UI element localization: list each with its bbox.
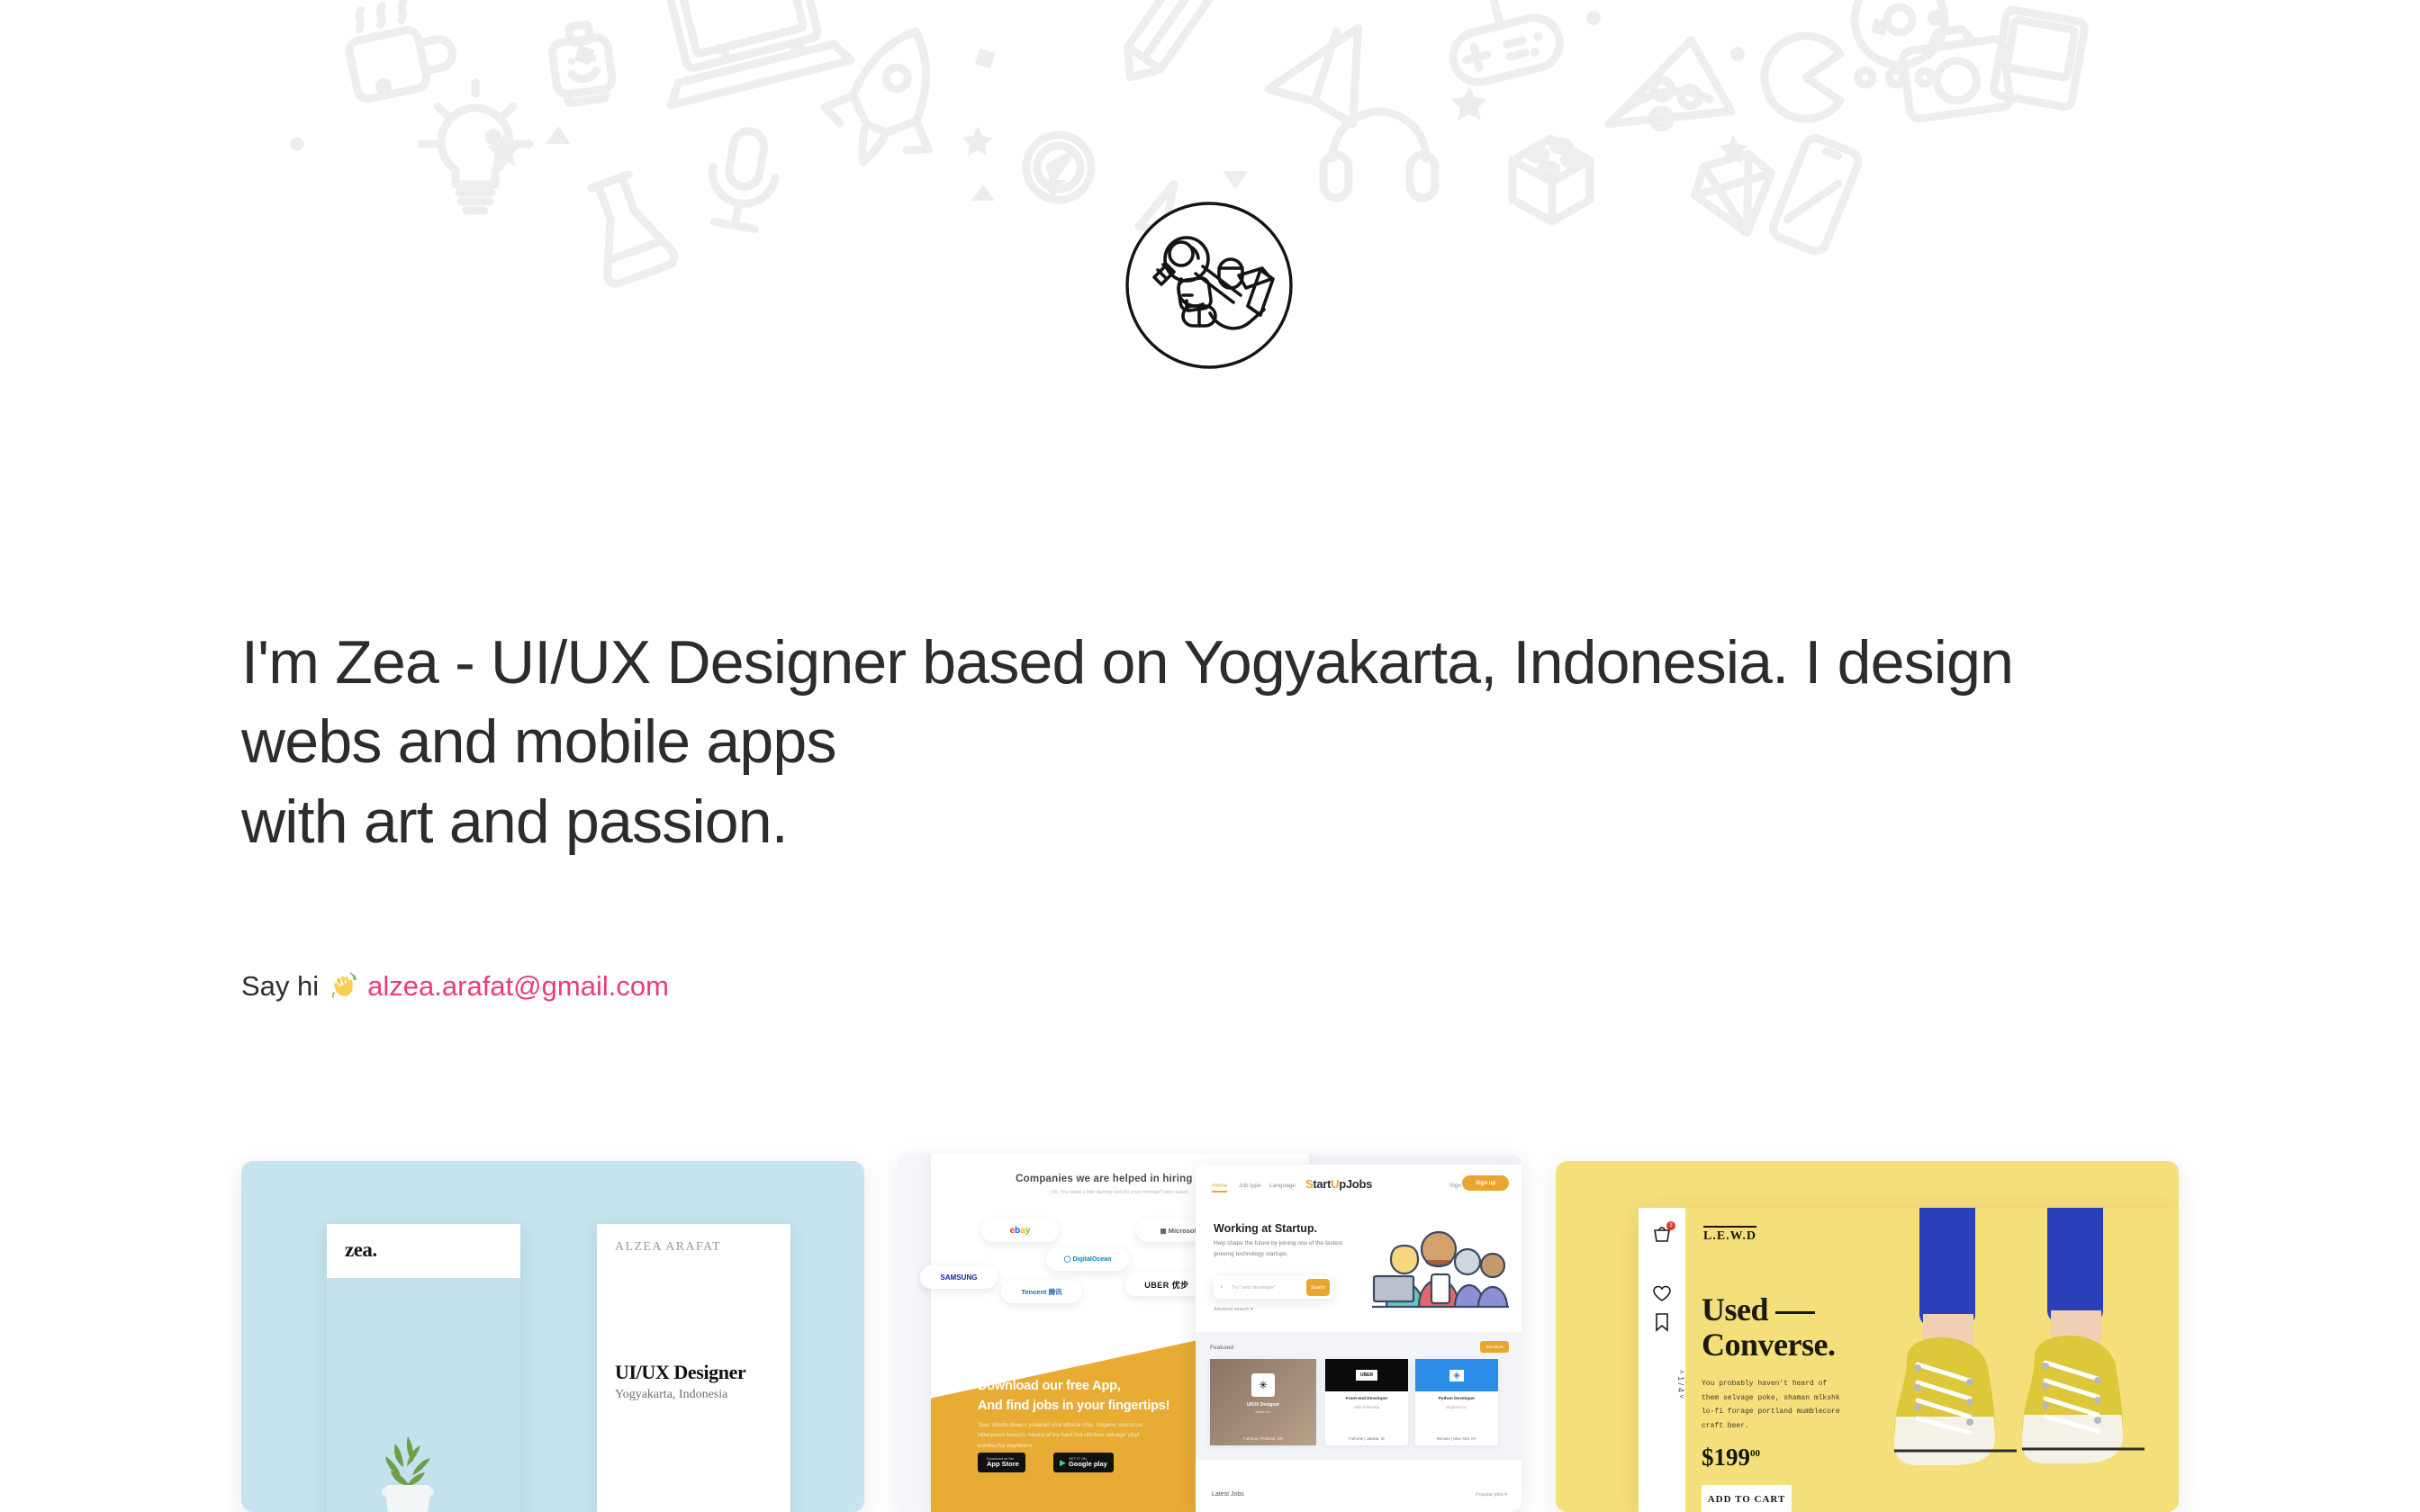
team-illustration-icon bbox=[1372, 1224, 1509, 1310]
portfolio-card-branding[interactable]: zea. ALZEA ARAFAT UI/UX Designer Yogyaka… bbox=[241, 1161, 864, 1512]
banner-line-1: Download our free App, bbox=[978, 1379, 1121, 1393]
uber-icon: UBER bbox=[1356, 1370, 1377, 1381]
astronaut-in-circle-icon[interactable] bbox=[1124, 200, 1295, 371]
app-hero-paragraph: Help shape the future by joining one of … bbox=[1214, 1238, 1349, 1260]
job-title-2: Front-end Developer bbox=[1325, 1397, 1408, 1401]
banner-paragraph: Jean shorts deep v polaroid viral ethica… bbox=[978, 1420, 1158, 1451]
featured-job-card-1[interactable]: ✳ UI/UX Designer Slack Inc. Full-time | … bbox=[1210, 1359, 1316, 1445]
cart-badge: 3 bbox=[1666, 1221, 1675, 1230]
product-price: $19900 bbox=[1702, 1444, 1760, 1471]
job-meta-3: Remote | New York, NY bbox=[1415, 1436, 1498, 1441]
smartphone-icon bbox=[1770, 135, 1862, 255]
person-role: UI/UX Designer bbox=[615, 1361, 745, 1384]
gamepad-icon bbox=[1438, 0, 1566, 87]
slide-pager[interactable]: ˄ 1 / 4 ˅ bbox=[1639, 1370, 1685, 1399]
app-hero-title: Working at Startup. bbox=[1214, 1222, 1317, 1235]
laptop-icon bbox=[642, 0, 851, 105]
contact-email-link[interactable]: alzea.arafat@gmail.com bbox=[367, 972, 669, 1000]
search-input-placeholder: Try "web developer" bbox=[1232, 1285, 1276, 1291]
see-more-button[interactable]: See More bbox=[1480, 1341, 1509, 1353]
slack-icon: ✳ bbox=[1251, 1373, 1275, 1397]
job-title-3: Python Developer bbox=[1415, 1397, 1498, 1401]
polaroid-icon bbox=[1992, 9, 2085, 108]
cart-icon[interactable]: 3 bbox=[1652, 1224, 1672, 1244]
job-thumbnail: ◈ bbox=[1415, 1359, 1498, 1391]
lego-brick-icon bbox=[1512, 139, 1590, 221]
job-search-bar[interactable]: ⌕ Try "web developer" Search bbox=[1214, 1276, 1332, 1299]
portfolio-card-grid: zea. ALZEA ARAFAT UI/UX Designer Yogyaka… bbox=[0, 1161, 2420, 1512]
banner-line-2: And find jobs in your fingertips! bbox=[978, 1399, 1169, 1413]
job-company-2: Uber Indonesia bbox=[1325, 1405, 1408, 1409]
nav-item-home[interactable]: Home bbox=[1212, 1183, 1227, 1192]
product-description: You probably haven't heard of them selva… bbox=[1702, 1377, 1846, 1433]
job-meta-2: Full-time | Jakarta, ID bbox=[1325, 1436, 1408, 1441]
featured-job-card-3[interactable]: ◈ Python Developer Dropbox Inc. Remote |… bbox=[1415, 1359, 1498, 1445]
succulent-plant-icon bbox=[367, 1431, 448, 1512]
featured-label: Featured bbox=[1210, 1345, 1233, 1351]
page-title: I'm Zea - UI/UX Designer based on Yogyak… bbox=[241, 623, 2132, 861]
microphone-icon bbox=[704, 126, 782, 231]
coffee-mug-icon bbox=[341, 0, 458, 101]
job-title-1: UI/UX Designer bbox=[1210, 1402, 1316, 1408]
signup-button[interactable]: Sign up bbox=[1462, 1175, 1509, 1191]
person-location: Yogyakarta, Indonesia bbox=[615, 1388, 727, 1402]
heart-icon[interactable] bbox=[1652, 1283, 1672, 1303]
app-store-button[interactable]: Download on the App Store bbox=[978, 1453, 1025, 1472]
job-meta-1: Full-time | Portland, OR bbox=[1210, 1436, 1316, 1441]
play-store-icon: ▶ bbox=[1060, 1459, 1066, 1467]
portfolio-page: I'm Zea - UI/UX Designer based on Yogyak… bbox=[0, 0, 2420, 1512]
featured-job-card-2[interactable]: UBER Front-end Developer Uber Indonesia … bbox=[1325, 1359, 1408, 1445]
add-to-cart-button[interactable]: ADD TO CART bbox=[1702, 1485, 1792, 1512]
portfolio-card-lewd-shop[interactable]: 3 ˄ 1 / 4 ˅ L.E.W.D bbox=[1556, 1161, 2179, 1512]
pizza-icon bbox=[1609, 27, 1744, 148]
person-name: ALZEA ARAFAT bbox=[615, 1240, 721, 1255]
rocket-icon bbox=[811, 11, 967, 183]
app-store-large: App Store bbox=[987, 1461, 1019, 1468]
dropbox-icon: ◈ bbox=[1449, 1370, 1464, 1381]
company-chip-samsung: SAMSUNG bbox=[920, 1265, 998, 1289]
nav-item-jobtype[interactable]: Job type bbox=[1239, 1183, 1261, 1189]
title-dash bbox=[1775, 1311, 1815, 1314]
converse-shoes-photo bbox=[1871, 1208, 2159, 1512]
search-button[interactable]: Search bbox=[1306, 1279, 1330, 1296]
paper-plane-icon bbox=[1260, 28, 1374, 138]
business-card-back: ALZEA ARAFAT UI/UX Designer Yogyakarta, … bbox=[597, 1224, 790, 1512]
camera-icon bbox=[1900, 23, 2011, 120]
shop-side-rail: 3 ˄ 1 / 4 ˅ bbox=[1639, 1208, 1685, 1512]
job-company-3: Dropbox Inc. bbox=[1415, 1405, 1498, 1409]
product-title-line-2: Converse. bbox=[1702, 1327, 1835, 1363]
popular-jobs-filter[interactable]: Popular jobs ▾ bbox=[1476, 1492, 1507, 1498]
chevron-down-icon: ▾ bbox=[1251, 1307, 1253, 1312]
advance-search-toggle[interactable]: Advance search ▾ bbox=[1214, 1307, 1253, 1312]
lego-head-icon bbox=[549, 22, 615, 104]
vinyl-record-icon bbox=[1855, 0, 1945, 65]
doodle-accents bbox=[290, 10, 1944, 201]
flask-icon bbox=[577, 169, 677, 286]
waving-hand-icon bbox=[329, 970, 359, 1001]
bookmark-icon[interactable] bbox=[1652, 1312, 1672, 1332]
company-chip-digitalocean: ◯ DigitalOcean bbox=[1046, 1247, 1129, 1271]
product-title-line-1: Used bbox=[1702, 1291, 1768, 1327]
search-icon: ⌕ bbox=[1220, 1284, 1224, 1291]
pacman-icon bbox=[1765, 36, 1931, 119]
lightbulb-icon bbox=[421, 83, 529, 211]
nav-item-language[interactable]: Language bbox=[1269, 1183, 1296, 1189]
play-store-large: Google play bbox=[1069, 1461, 1107, 1468]
company-chip-ebay: ebay bbox=[981, 1219, 1059, 1242]
play-store-small: GET IT ON bbox=[1069, 1457, 1107, 1461]
portfolio-card-startupjobs[interactable]: Companies we are helped in hiring talent… bbox=[898, 1154, 1522, 1512]
google-play-button[interactable]: ▶ GET IT ON Google play bbox=[1053, 1453, 1114, 1472]
contact-line: Say hi alzea.arafat@gmail.com bbox=[241, 970, 669, 1001]
pencil-icon bbox=[1115, 0, 1212, 88]
contact-label: Say hi bbox=[241, 972, 319, 1000]
brand-logo-text: zea. bbox=[345, 1238, 377, 1262]
app-brand-logo: StartUpJobs bbox=[1305, 1177, 1372, 1191]
startupjobs-app-mock: Home Job type Language Sign in StartUpJo… bbox=[1196, 1165, 1522, 1512]
company-chip-tencent: Tencent 腾讯 bbox=[1001, 1280, 1082, 1303]
shop-brand-logo: L.E.W.D bbox=[1703, 1226, 1756, 1244]
diamond-icon bbox=[1688, 149, 1785, 244]
job-company-1: Slack Inc. bbox=[1210, 1409, 1316, 1414]
chevron-down-icon: ▾ bbox=[1504, 1492, 1507, 1498]
job-thumbnail: UBER bbox=[1325, 1359, 1408, 1391]
compass-icon bbox=[1026, 135, 1091, 200]
latest-jobs-heading: Latest Jobs bbox=[1212, 1491, 1244, 1498]
product-title: Used Converse. bbox=[1702, 1292, 1864, 1363]
shop-window-mock: 3 ˄ 1 / 4 ˅ L.E.W.D bbox=[1639, 1208, 2179, 1512]
headphones-icon bbox=[1323, 112, 1435, 198]
app-store-small: Download on the bbox=[987, 1457, 1019, 1461]
